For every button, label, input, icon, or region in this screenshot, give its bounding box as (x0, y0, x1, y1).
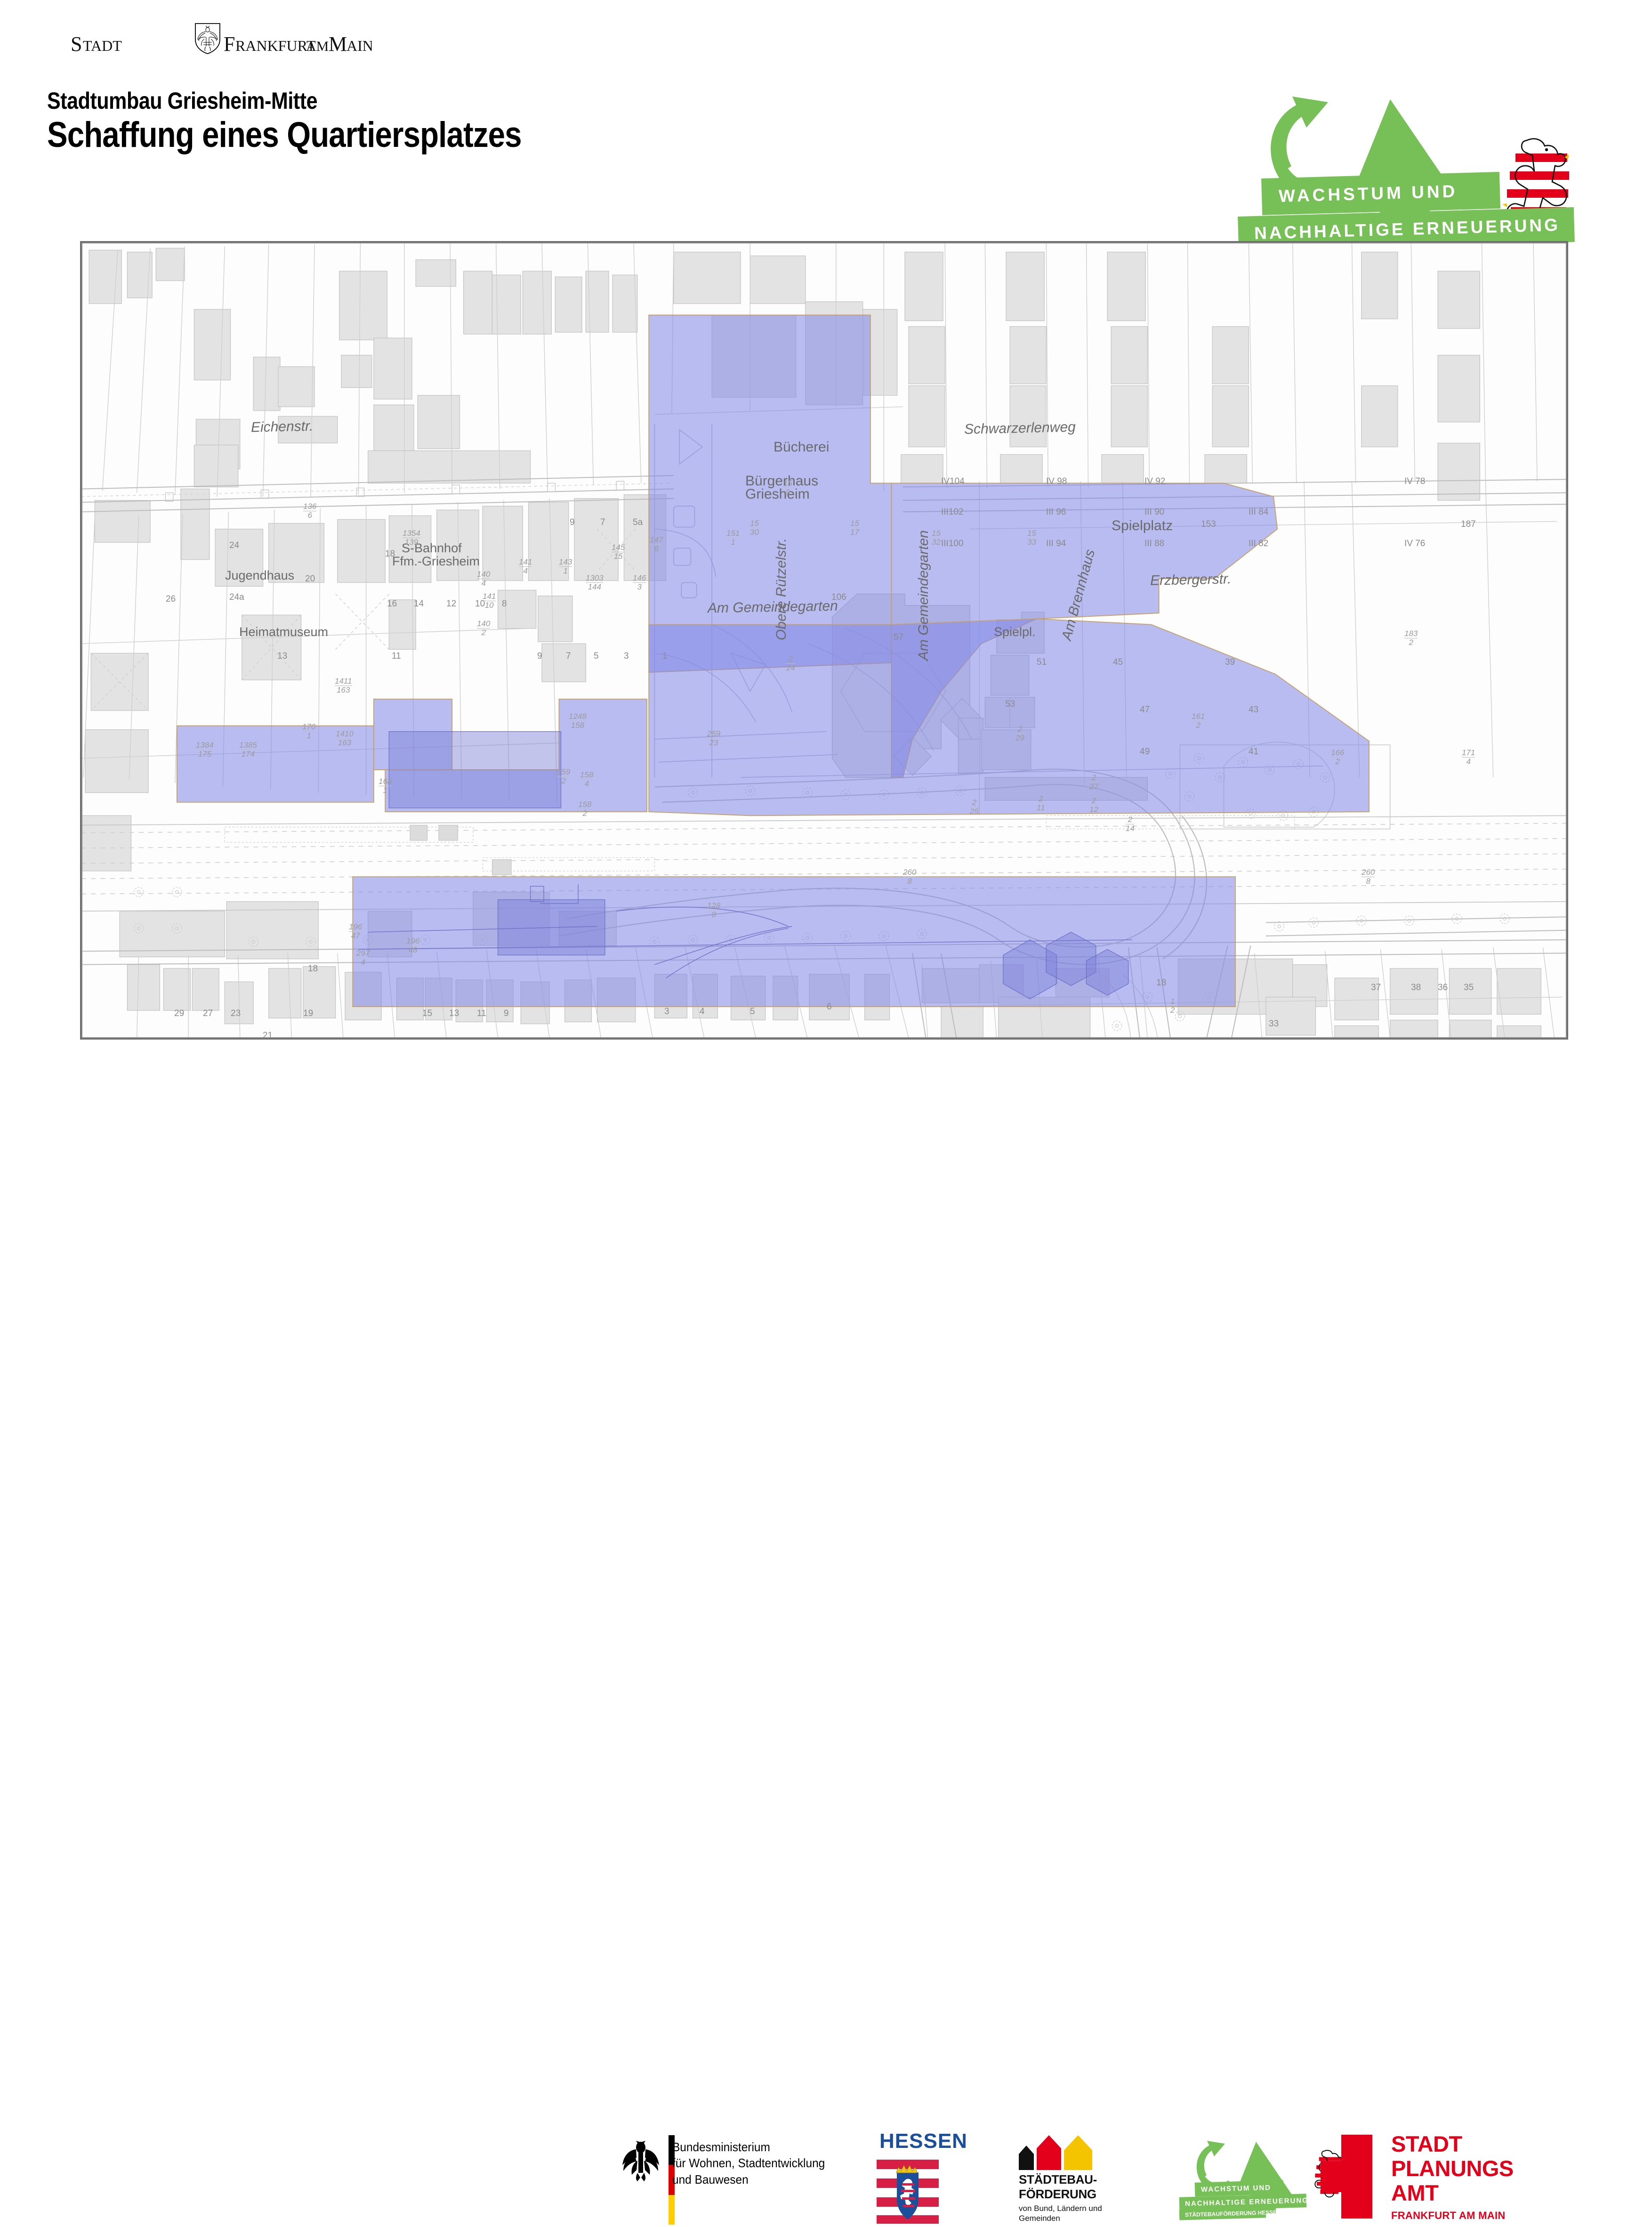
bmwsb-label: Bundesministerium für Wohnen, Stadtentwi… (672, 2139, 825, 2187)
spa-line-1: STADT (1391, 2133, 1462, 2155)
bundesadler-icon (621, 2138, 661, 2183)
svg-text:AM: AM (306, 39, 329, 54)
staedtebaufoerderung-houses-icon (1016, 2135, 1105, 2170)
svg-text:TADT: TADT (83, 37, 122, 54)
hessen-flag-shield (877, 2159, 939, 2225)
page-title: Schaffung eines Quartiersplatzes (47, 114, 522, 155)
spa-line-2: PLANUNGS (1391, 2157, 1514, 2179)
svg-text:RANKFURT: RANKFURT (235, 37, 316, 54)
staedtebaufoerderung-label: STÄDTEBAU- FÖRDERUNG (1019, 2172, 1097, 2201)
staedtebaufoerderung-sublabel: von Bund, Ländern und Gemeinden (1019, 2203, 1102, 2224)
spa-line-3: AMT (1391, 2182, 1438, 2204)
sf-sub-1: von Bund, Ländern und (1019, 2203, 1102, 2213)
hessen-band-wachstum: WACHSTUM UND (1261, 172, 1500, 215)
spa-sublabel: FRANKFURT AM MAIN (1391, 2210, 1506, 2222)
stadtplanungsamt-mark-icon (1321, 2135, 1372, 2219)
bmwsb-line-3: und Bauwesen (672, 2171, 825, 2187)
cadastral-map[interactable]: Eichenstr. Schwarzerlenweg Am Gemeindega… (80, 241, 1568, 1040)
sf-line-2: FÖRDERUNG (1019, 2187, 1097, 2202)
page-subtitle: Stadtumbau Griesheim-Mitte (47, 87, 317, 114)
svg-text:AIN: AIN (347, 37, 372, 54)
svg-text:S: S (71, 32, 82, 56)
bmwsb-line-1: Bundesministerium (672, 2139, 825, 2155)
sf-sub-2: Gemeinden (1019, 2213, 1102, 2223)
hessen-sm-band-wachstum: WACHSTUM UND (1195, 2180, 1284, 2196)
svg-text:F: F (224, 32, 235, 56)
sf-line-1: STÄDTEBAU- (1019, 2172, 1097, 2187)
funding-logo-footer: Bundesministerium für Wohnen, Stadtentwi… (0, 1062, 1652, 1168)
bmwsb-line-2: für Wohnen, Stadtentwicklung (672, 2155, 825, 2171)
city-of-frankfurt-logo: S TADT F RANKFURT AM M AIN (71, 23, 372, 56)
stadtplanungsamt-logo: STADT PLANUNGS AMT FRANKFURT AM MAIN (1321, 2133, 1603, 2222)
svg-text:M: M (329, 32, 347, 56)
hessen-wordmark: HESSEN (879, 2130, 967, 2153)
map-vector-layer (81, 242, 1567, 1038)
